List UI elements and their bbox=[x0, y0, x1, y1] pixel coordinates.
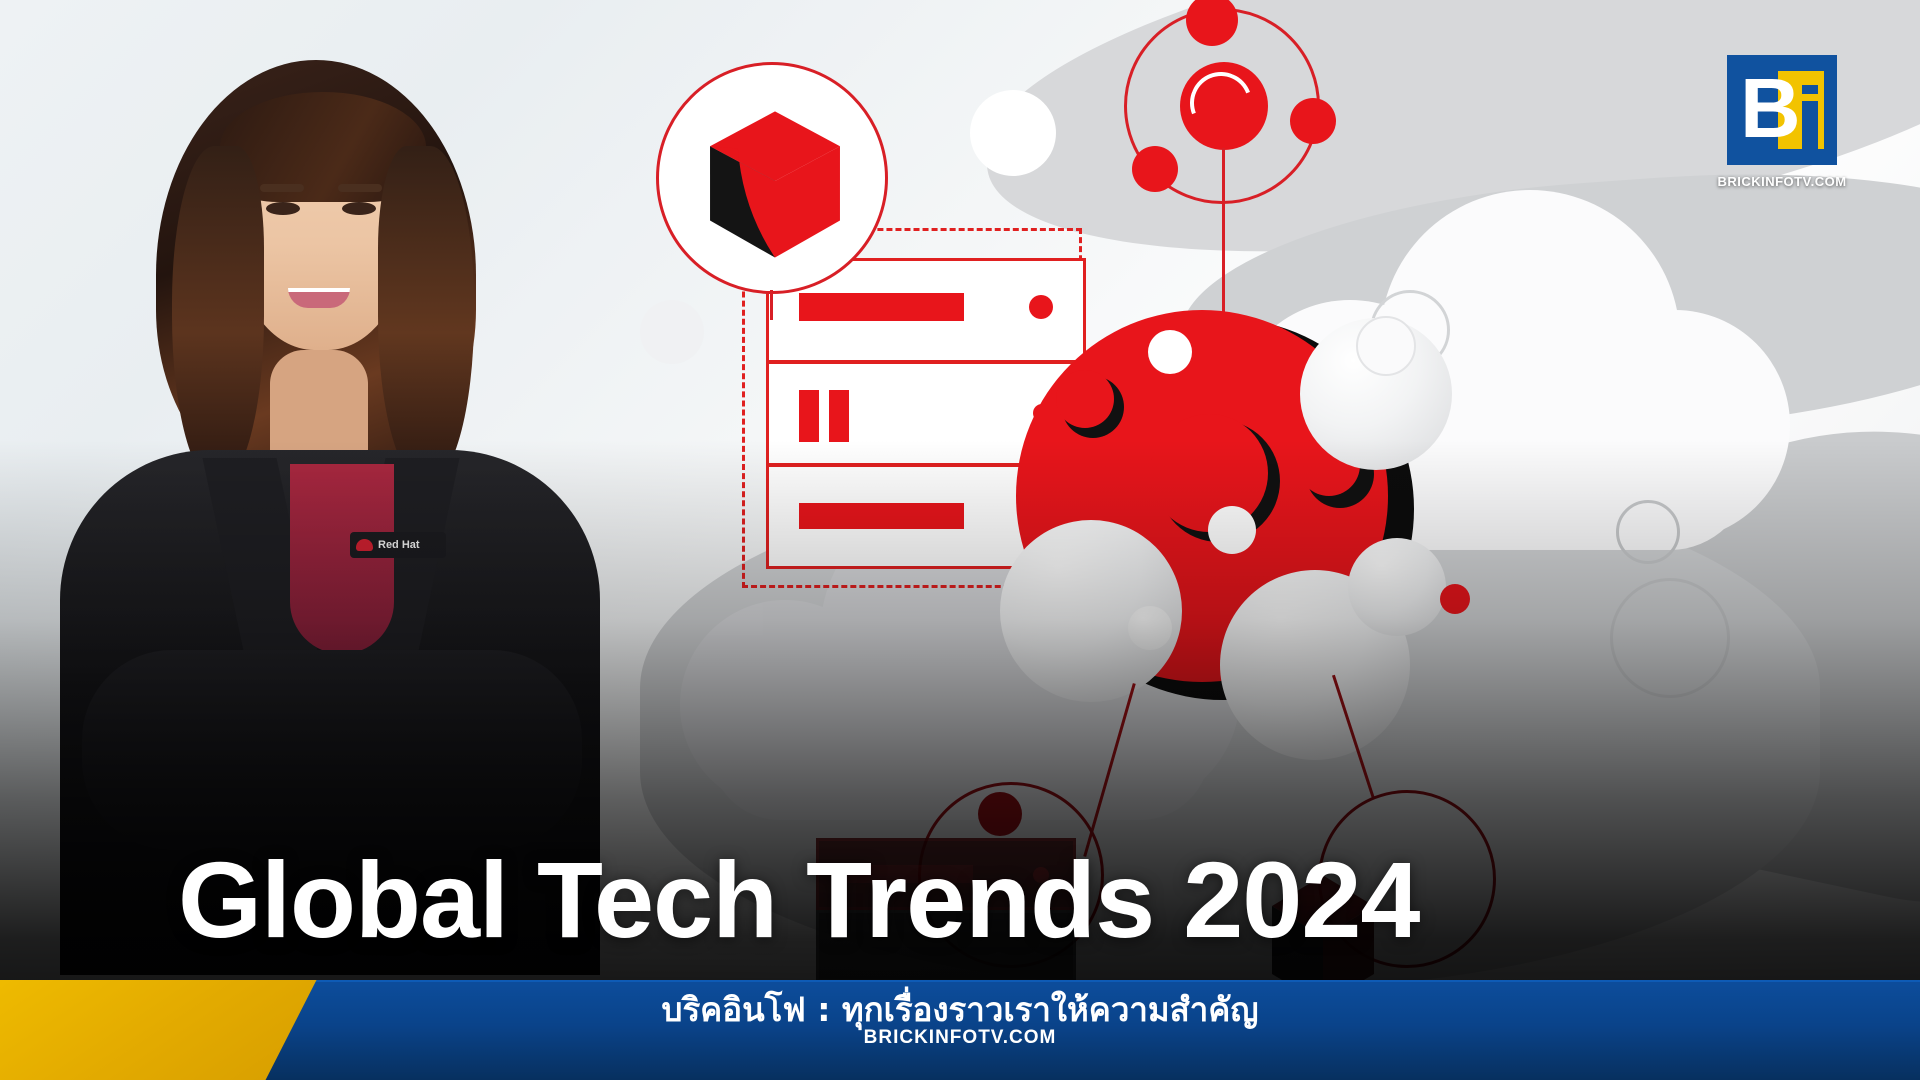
banner-text-group: บริคอินโฟ : ทุกเรื่องราวเราให้ความสำคัญ … bbox=[0, 980, 1920, 1049]
presenter-brow-right bbox=[338, 184, 382, 192]
red-dot-accent bbox=[1440, 584, 1470, 614]
logo-caption: BRICKINFOTV.COM bbox=[1716, 174, 1848, 189]
gray-bubble-tiny bbox=[1128, 606, 1172, 650]
sphere-cut-small bbox=[1056, 370, 1114, 428]
ring-outline-5 bbox=[640, 300, 704, 364]
banner-url: BRICKINFOTV.COM bbox=[0, 1027, 1920, 1049]
atom-node-right bbox=[1290, 98, 1336, 144]
ring-outline-4 bbox=[970, 90, 1056, 176]
brickinfotv-logo[interactable]: B BRICKINFOTV.COM bbox=[1716, 55, 1848, 189]
presenter-photo: Red Hat bbox=[60, 50, 600, 975]
page-title: Global Tech Trends 2024 bbox=[178, 846, 1419, 954]
atom-core bbox=[1180, 62, 1268, 150]
banner-tagline: บริคอินโฟ : ทุกเรื่องราวเราให้ความสำคัญ bbox=[0, 992, 1920, 1029]
logo-mark: B bbox=[1727, 55, 1837, 165]
presenter-brow-left bbox=[260, 184, 304, 192]
red-hat-badge-label: Red Hat bbox=[378, 539, 420, 551]
red-hat-icon bbox=[356, 539, 373, 551]
logo-mark-inner: B bbox=[1740, 71, 1824, 149]
white-bubble-a bbox=[1148, 330, 1192, 374]
presenter-eye-right bbox=[342, 202, 376, 215]
red-hat-badge: Red Hat bbox=[350, 532, 446, 558]
bottom-banner: บริคอินโฟ : ทุกเรื่องราวเราให้ความสำคัญ … bbox=[0, 980, 1920, 1080]
container-cube-icon bbox=[656, 62, 888, 294]
cube-connector-line bbox=[770, 290, 773, 320]
logo-i-dot bbox=[1802, 85, 1818, 94]
graphic-canvas: Red Hat Global Tech Trends 2024 B BRICKI… bbox=[0, 0, 1920, 1080]
logo-letter-b: B bbox=[1740, 71, 1798, 149]
atom-node-left bbox=[1132, 146, 1178, 192]
presenter-hair-left bbox=[172, 146, 264, 486]
presenter-top bbox=[290, 464, 394, 654]
logo-i-stem bbox=[1802, 101, 1818, 149]
presenter-eye-left bbox=[266, 202, 300, 215]
presenter-arms bbox=[82, 650, 582, 850]
ring-outline-1 bbox=[1616, 500, 1680, 564]
presenter-hair-right bbox=[378, 146, 474, 486]
gray-bubble-small-tr bbox=[1356, 316, 1416, 376]
atom-stem bbox=[1222, 148, 1225, 328]
white-bubble-b bbox=[1208, 506, 1256, 554]
lower-atom-node-left bbox=[978, 792, 1022, 836]
gray-bubble-right bbox=[1348, 538, 1446, 636]
ring-outline-2 bbox=[1610, 578, 1730, 698]
